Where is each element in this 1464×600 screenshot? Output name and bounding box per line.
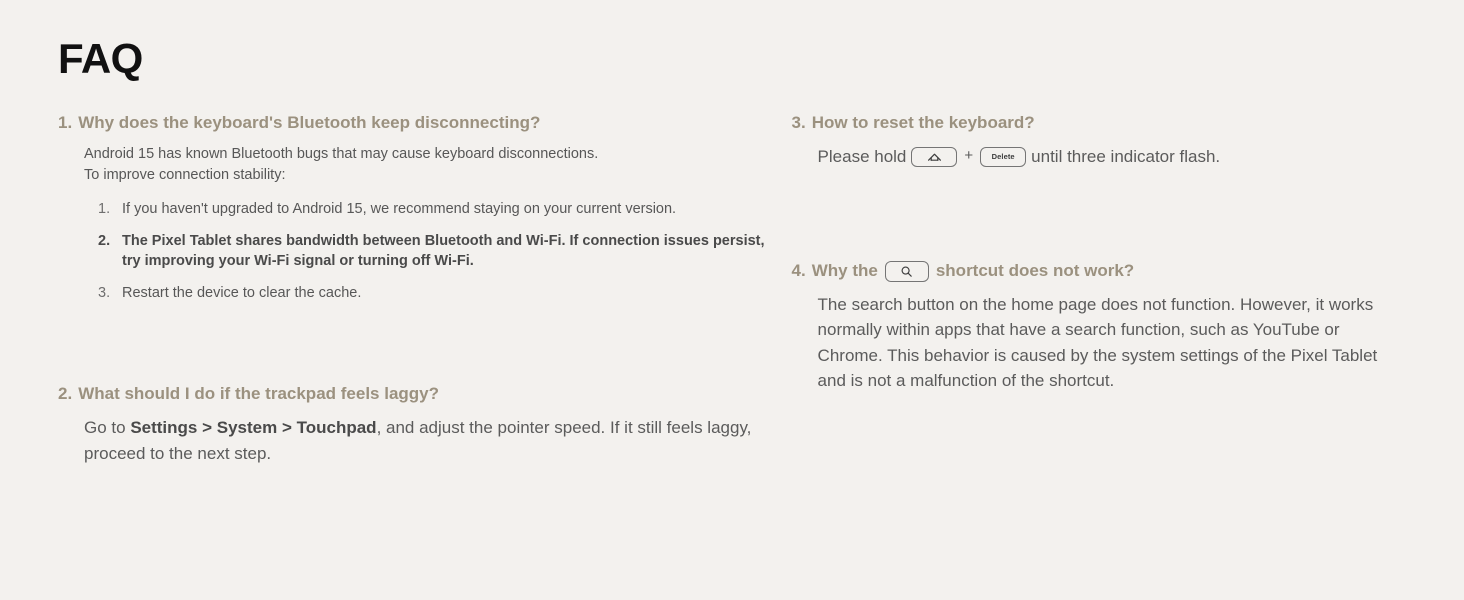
faq-column-right: 3. How to reset the keyboard? Please hol… <box>792 112 1406 394</box>
question-4-heading: 4. Why the shortcut does not work? <box>792 260 1406 283</box>
faq-columns: 1. Why does the keyboard's Bluetooth kee… <box>58 112 1406 467</box>
answer-4-paragraph: The search button on the home page does … <box>818 292 1406 394</box>
step-text: Restart the device to clear the cache. <box>122 285 361 301</box>
question-2-heading: 2. What should I do if the trackpad feel… <box>58 383 772 406</box>
faq-item-4: 4. Why the shortcut does not work? The s <box>792 260 1406 394</box>
faq-item-1: 1. Why does the keyboard's Bluetooth kee… <box>58 112 772 303</box>
answer-2-paragraph: Go to Settings > System > Touchpad, and … <box>84 415 772 467</box>
faq-page: FAQ 1. Why does the keyboard's Bluetooth… <box>0 0 1464 600</box>
question-1-number: 1. <box>58 112 72 135</box>
question-3-heading: 3. How to reset the keyboard? <box>792 112 1406 135</box>
answer-2-emphasis: Settings > System > Touchpad <box>130 418 376 437</box>
question-3-number: 3. <box>792 112 806 135</box>
list-item: 2. The Pixel Tablet shares bandwidth bet… <box>98 231 772 272</box>
list-item: 3. Restart the device to clear the cache… <box>98 283 772 304</box>
keycap-delete-label: Delete <box>992 153 1015 161</box>
keycap-search[interactable] <box>885 261 929 282</box>
answer-2: Go to Settings > System > Touchpad, and … <box>84 415 772 467</box>
step-text: If you haven't upgraded to Android 15, w… <box>122 201 676 217</box>
answer-1-line-2: To improve connection stability: <box>84 165 772 186</box>
faq-item-2: 2. What should I do if the trackpad feel… <box>58 383 772 467</box>
answer-3-suffix: until three indicator flash. <box>1031 144 1220 170</box>
question-4-number: 4. <box>792 260 806 283</box>
answer-1: Android 15 has known Bluetooth bugs that… <box>84 144 772 303</box>
step-number: 3. <box>98 283 110 304</box>
question-1-text: Why does the keyboard's Bluetooth keep d… <box>78 112 540 135</box>
list-item: 1. If you haven't upgraded to Android 15… <box>98 199 772 220</box>
answer-3-paragraph: Please hold + <box>818 144 1221 170</box>
question-2-number: 2. <box>58 383 72 406</box>
question-2-text: What should I do if the trackpad feels l… <box>78 383 439 406</box>
answer-3-prefix: Please hold <box>818 144 907 170</box>
home-icon <box>927 151 942 163</box>
question-4-suffix: shortcut does not work? <box>936 260 1134 283</box>
key-plus-separator: + <box>964 145 973 168</box>
answer-2-prefix: Go to <box>84 418 130 437</box>
answer-1-step-list: 1. If you haven't upgraded to Android 15… <box>84 199 772 303</box>
step-number: 1. <box>98 199 110 220</box>
search-icon <box>900 265 913 278</box>
step-number: 2. <box>98 231 110 252</box>
faq-item-3: 3. How to reset the keyboard? Please hol… <box>792 112 1406 170</box>
keycap-delete[interactable]: Delete <box>980 147 1026 167</box>
answer-4: The search button on the home page does … <box>818 292 1406 394</box>
faq-column-left: 1. Why does the keyboard's Bluetooth kee… <box>58 112 792 467</box>
answer-1-line-1: Android 15 has known Bluetooth bugs that… <box>84 144 772 165</box>
step-text: The Pixel Tablet shares bandwidth betwee… <box>122 233 765 270</box>
question-1-heading: 1. Why does the keyboard's Bluetooth kee… <box>58 112 772 135</box>
question-3-text: How to reset the keyboard? <box>812 112 1035 135</box>
keycap-home[interactable] <box>911 147 957 167</box>
page-title: FAQ <box>58 38 1406 80</box>
answer-3: Please hold + <box>818 144 1406 170</box>
question-4-prefix: Why the <box>812 260 878 283</box>
